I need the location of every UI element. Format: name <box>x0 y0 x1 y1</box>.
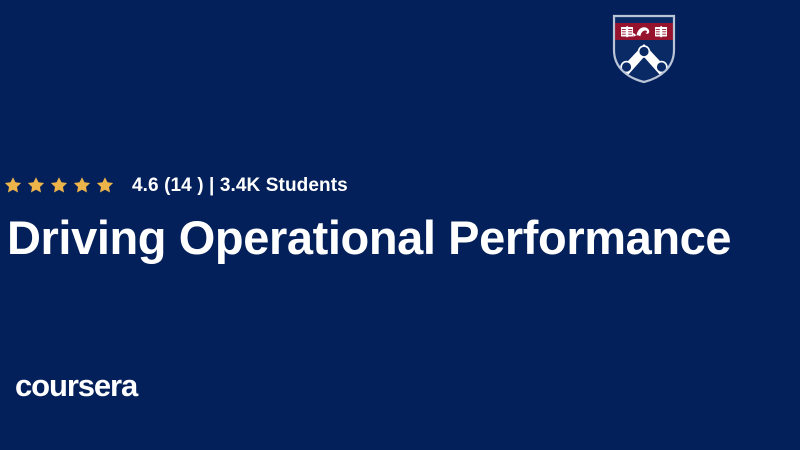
star-rating <box>4 176 114 194</box>
star-icon <box>27 176 45 194</box>
upenn-shield-logo <box>612 14 676 84</box>
star-icon <box>96 176 114 194</box>
star-icon <box>50 176 68 194</box>
rating-row: 4.6 (14 ) | 3.4K Students <box>4 170 348 200</box>
rating-text: 4.6 (14 ) | 3.4K Students <box>132 176 348 195</box>
coursera-wordmark: coursera <box>15 370 137 401</box>
course-promo-card: 4.6 (14 ) | 3.4K Students Driving Operat… <box>0 0 800 450</box>
coursera-logo: coursera <box>15 370 137 400</box>
star-icon <box>4 176 22 194</box>
course-title: Driving Operational Performance <box>7 212 797 265</box>
star-icon <box>73 176 91 194</box>
